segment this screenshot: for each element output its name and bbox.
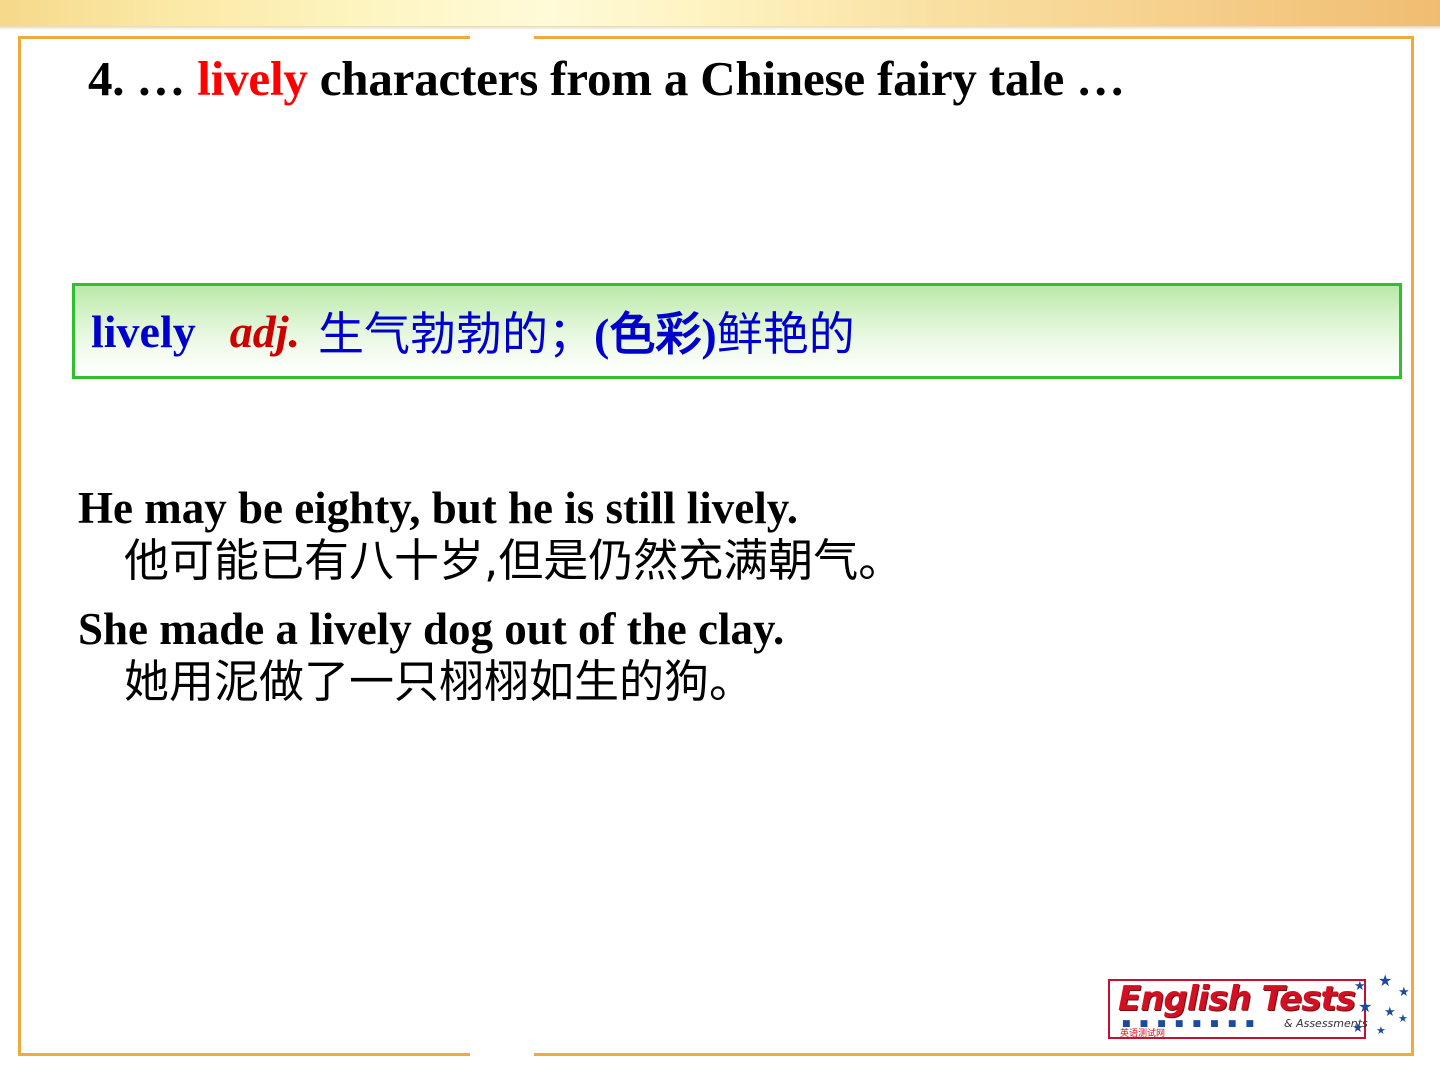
definition-box: lively adj. 生气勃勃的；(色彩)鲜艳的 [72,283,1402,379]
page-title: 4. … lively characters from a Chinese fa… [88,52,1338,107]
logo-title: English Tests [1118,979,1355,1019]
example-english: She made a lively dog out of the clay. [78,603,1378,655]
english-tests-logo: English Tests ■ ■ ■ ■ ■ ■ ■ ■ 英语测试网 & As… [1108,975,1408,1047]
slide: 4. … lively characters from a Chinese fa… [0,0,1440,1080]
definition-part-of-speech: adj. [230,305,300,358]
definition-meaning-paren: (色彩) [594,309,717,360]
slide-content: 4. … lively characters from a Chinese fa… [0,0,1440,1080]
logo-stars-icon: ★ ★ ★ ★ ★ ★ ★ ★ [1348,975,1414,1039]
heading-rest: characters from a Chinese fairy tale … [320,51,1125,106]
example-english: He may be eighty, but he is still lively… [78,482,1378,534]
example-chinese: 她用泥做了一只栩栩如生的狗。 [78,655,1378,708]
definition-meaning-main: 生气勃勃的； [318,307,594,361]
example-chinese: 他可能已有八十岁,但是仍然充满朝气。 [78,534,1378,587]
example-item: She made a lively dog out of the clay. 她… [78,603,1378,708]
examples-list: He may be eighty, but he is still lively… [78,482,1378,709]
definition-meaning: 生气勃勃的；(色彩)鲜艳的 [318,298,855,364]
definition-meaning-tail: 鲜艳的 [717,307,855,361]
logo-subtitle-cn: 英语测试网 [1120,1026,1165,1039]
heading-prefix: … [136,51,185,106]
definition-word: lively [91,305,196,358]
heading-highlight-word: lively [197,51,307,106]
example-item: He may be eighty, but he is still lively… [78,482,1378,587]
heading-number: 4. [88,51,124,106]
